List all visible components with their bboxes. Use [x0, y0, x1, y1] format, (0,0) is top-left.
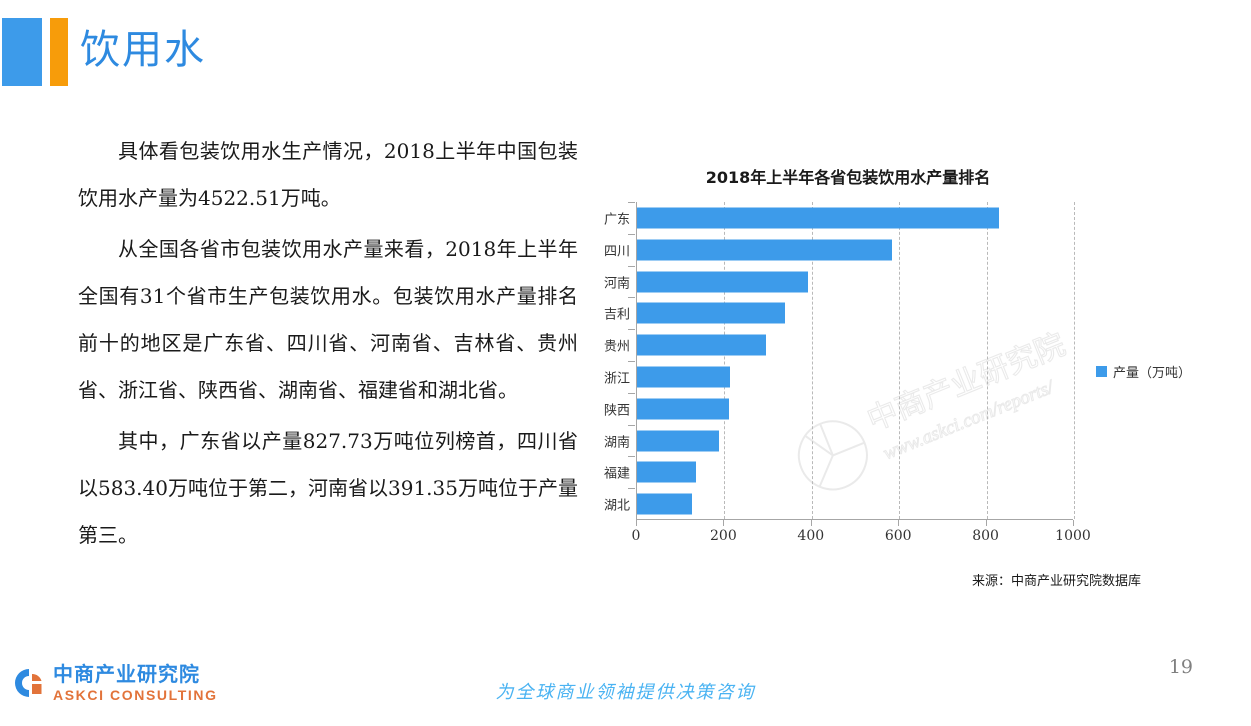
chart-category-label: 福建 [604, 463, 630, 482]
chart-y-tick [628, 266, 635, 267]
chart-bar [637, 366, 730, 387]
paragraph-3: 其中，广东省以产量827.73万吨位列榜首，四川省以583.40万吨位于第二，河… [78, 418, 578, 559]
slide-footer: 中商产业研究院 ASKCI CONSULTING 为全球商业领袖提供决策咨询 1… [0, 646, 1251, 726]
chart-bar [637, 303, 785, 324]
body-text-block: 具体看包装饮用水生产情况，2018上半年中国包装饮用水产量为4522.51万吨。… [78, 128, 578, 563]
paragraph-2: 从全国各省市包装饮用水产量来看，2018年上半年全国有31个省市生产包装饮用水。… [78, 226, 578, 414]
chart-y-tick [628, 488, 635, 489]
chart-y-tick [628, 393, 635, 394]
chart-category-label: 四川 [604, 240, 630, 259]
chart-gridline [987, 202, 988, 519]
chart-x-tick-label: 200 [710, 528, 737, 544]
chart-gridline [899, 202, 900, 519]
chart-plot: 广东四川河南吉利贵州浙江陕西湖南福建湖北 中商产业研究院 www.askci.c… [588, 202, 1088, 542]
chart-y-tick [628, 361, 635, 362]
chart-category-label: 贵州 [604, 336, 630, 355]
chart-category-label: 湖北 [604, 495, 630, 514]
chart-y-tick [628, 329, 635, 330]
chart-category-label: 河南 [604, 272, 630, 291]
legend-label: 产量（万吨） [1113, 362, 1191, 381]
chart-legend: 产量（万吨） [1096, 362, 1191, 381]
chart-x-tick-label: 800 [972, 528, 999, 544]
chart-x-tick [636, 520, 637, 526]
chart-x-tick [1073, 520, 1074, 526]
chart-y-tick [628, 456, 635, 457]
chart-title: 2018年上半年各省包装饮用水产量排名 [588, 164, 1108, 188]
page-number: 19 [1169, 656, 1193, 678]
chart-x-tick [811, 520, 812, 526]
header-blue-block [2, 18, 42, 86]
chart-x-tick-label: 1000 [1055, 528, 1091, 544]
chart-x-tick [986, 520, 987, 526]
chart-category-label: 浙江 [604, 367, 630, 386]
chart-bar [637, 335, 766, 356]
chart-container: 2018年上半年各省包装饮用水产量排名 广东四川河南吉利贵州浙江陕西湖南福建湖北… [588, 150, 1228, 600]
footer-tagline: 为全球商业领袖提供决策咨询 [0, 678, 1251, 704]
header-orange-block [50, 18, 68, 86]
chart-y-tick [628, 297, 635, 298]
chart-x-tick-label: 400 [797, 528, 824, 544]
chart-bar [637, 398, 729, 419]
chart-category-label: 陕西 [604, 399, 630, 418]
paragraph-1: 具体看包装饮用水生产情况，2018上半年中国包装饮用水产量为4522.51万吨。 [78, 128, 578, 222]
chart-category-label: 广东 [604, 208, 630, 227]
chart-y-tick [628, 234, 635, 235]
chart-bar [637, 271, 808, 292]
chart-bar [637, 239, 892, 260]
watermark-text-cn: 中商产业研究院 [862, 327, 1070, 438]
chart-gridline [1074, 202, 1075, 519]
chart-bar [637, 207, 999, 228]
legend-swatch-icon [1096, 366, 1107, 377]
chart-y-tick [628, 425, 635, 426]
chart-bar [637, 462, 696, 483]
page-title: 饮用水 [80, 20, 206, 80]
chart-y-tick [628, 202, 635, 203]
chart-category-axis: 广东四川河南吉利贵州浙江陕西湖南福建湖北 [588, 202, 634, 520]
slide-header: 饮用水 [0, 0, 1251, 100]
chart-category-label: 湖南 [604, 431, 630, 450]
chart-source-note: 来源：中商产业研究院数据库 [972, 570, 1141, 589]
chart-x-tick [898, 520, 899, 526]
chart-x-tick [723, 520, 724, 526]
chart-bar [637, 494, 692, 515]
chart-x-tick-label: 0 [632, 528, 641, 544]
chart-plot-area: 中商产业研究院 www.askci.com/reports/ [636, 202, 1073, 520]
chart-category-label: 吉利 [604, 304, 630, 323]
chart-bar [637, 430, 719, 451]
watermark-text-url: www.askci.com/reports/ [880, 376, 1058, 464]
chart-x-tick-label: 600 [885, 528, 912, 544]
watermark-logo: 中商产业研究院 www.askci.com/reports/ [757, 312, 1077, 492]
